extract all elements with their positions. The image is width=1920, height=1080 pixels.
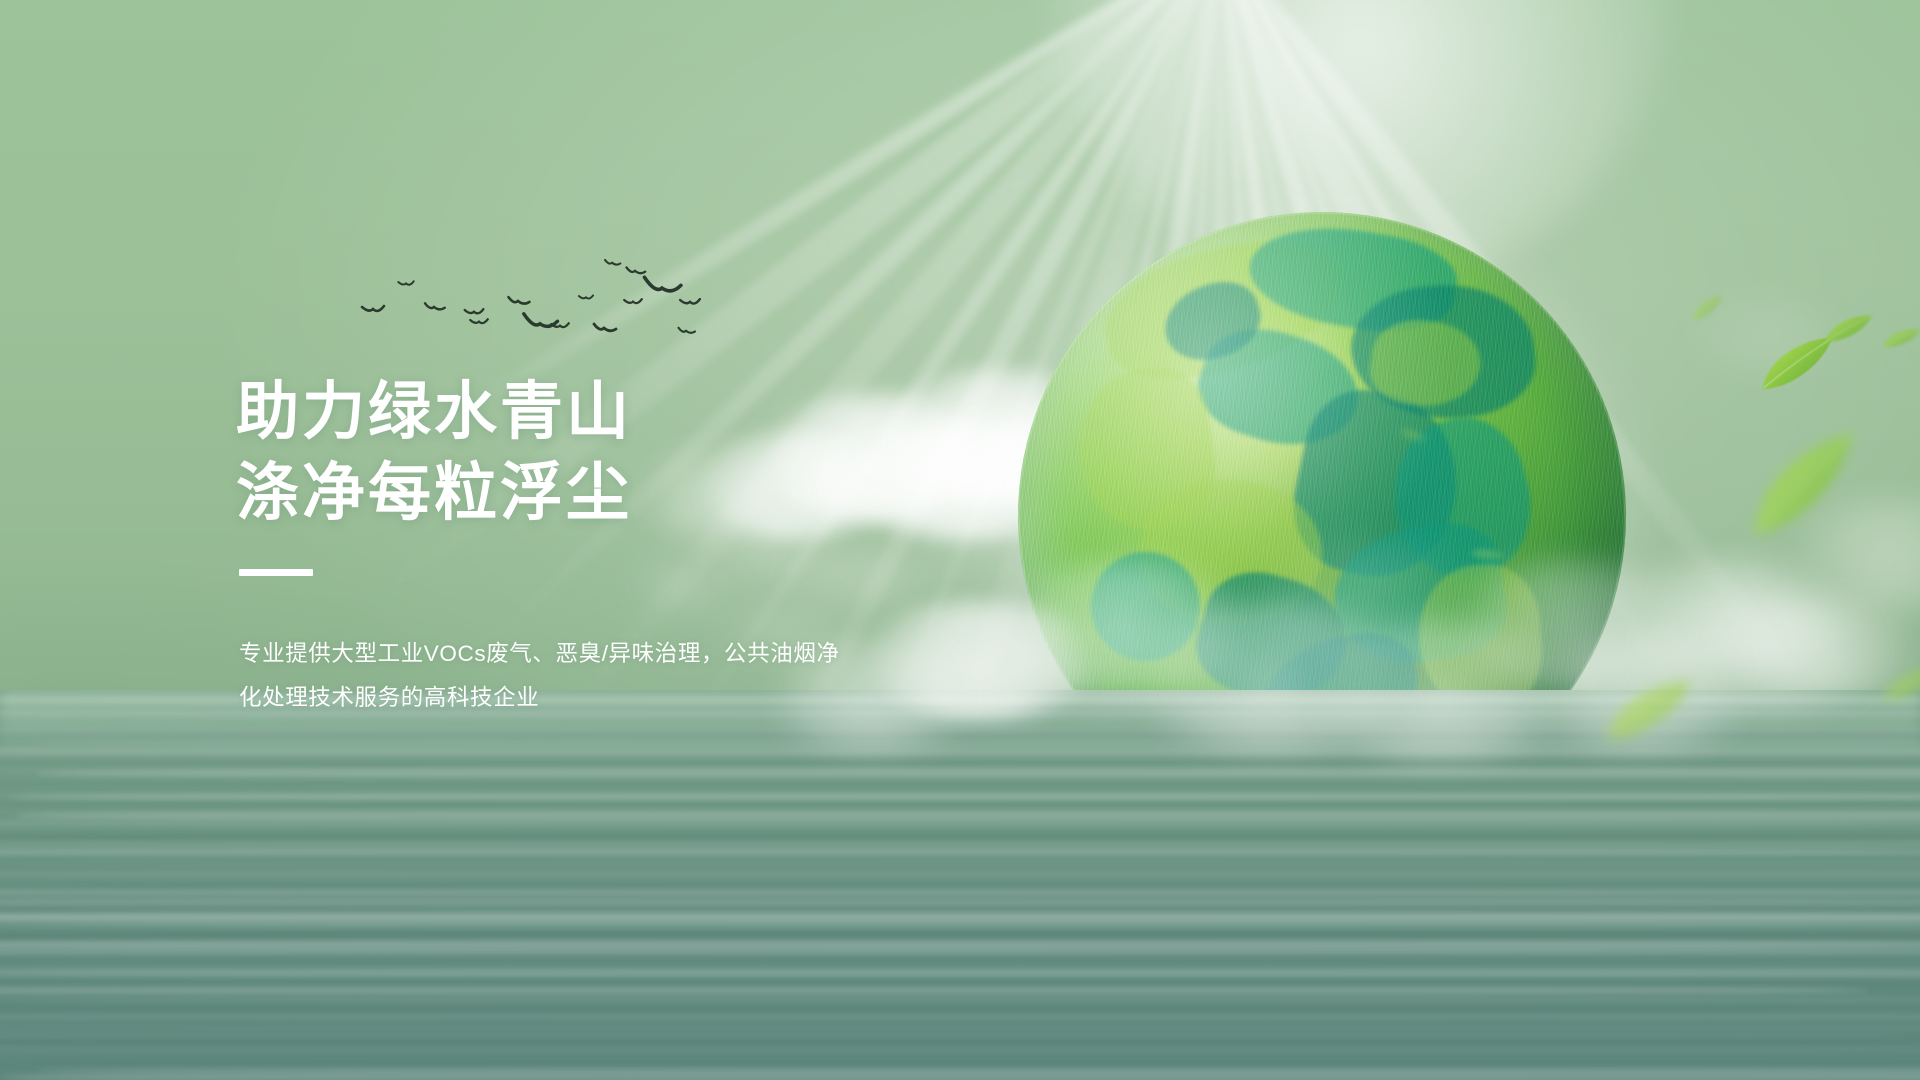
leaf-icon (1818, 310, 1880, 349)
hero-copy: 助力绿水青山 涤净每粒浮尘 专业提供大型工业VOCs废气、恶臭/异味治理，公共油… (236, 372, 996, 720)
headline-divider (239, 569, 313, 576)
leaf-icon (1687, 291, 1730, 325)
subtitle-line-2: 化处理技术服务的高科技企业 (239, 685, 539, 710)
leaf-icon (1592, 670, 1708, 752)
headline-line-2: 涤净每粒浮尘 (236, 453, 996, 534)
leaf-icon (1727, 417, 1882, 552)
leaf-icon (1749, 328, 1847, 401)
leaf-icon (1879, 325, 1920, 352)
hero-banner: 助力绿水青山 涤净每粒浮尘 专业提供大型工业VOCs废气、恶臭/异味治理，公共油… (0, 0, 1920, 1080)
leaf-icon (1469, 544, 1505, 566)
subtitle-line-1: 专业提供大型工业VOCs废气、恶臭/异味治理，公共油烟净 (239, 641, 840, 666)
leaf-icon (1397, 424, 1429, 449)
headline-line-1: 助力绿水青山 (236, 372, 996, 453)
hero-subtitle: 专业提供大型工业VOCs废气、恶臭/异味治理，公共油烟净化处理技术服务的高科技企… (239, 632, 899, 720)
leaf-icon (1876, 661, 1920, 708)
